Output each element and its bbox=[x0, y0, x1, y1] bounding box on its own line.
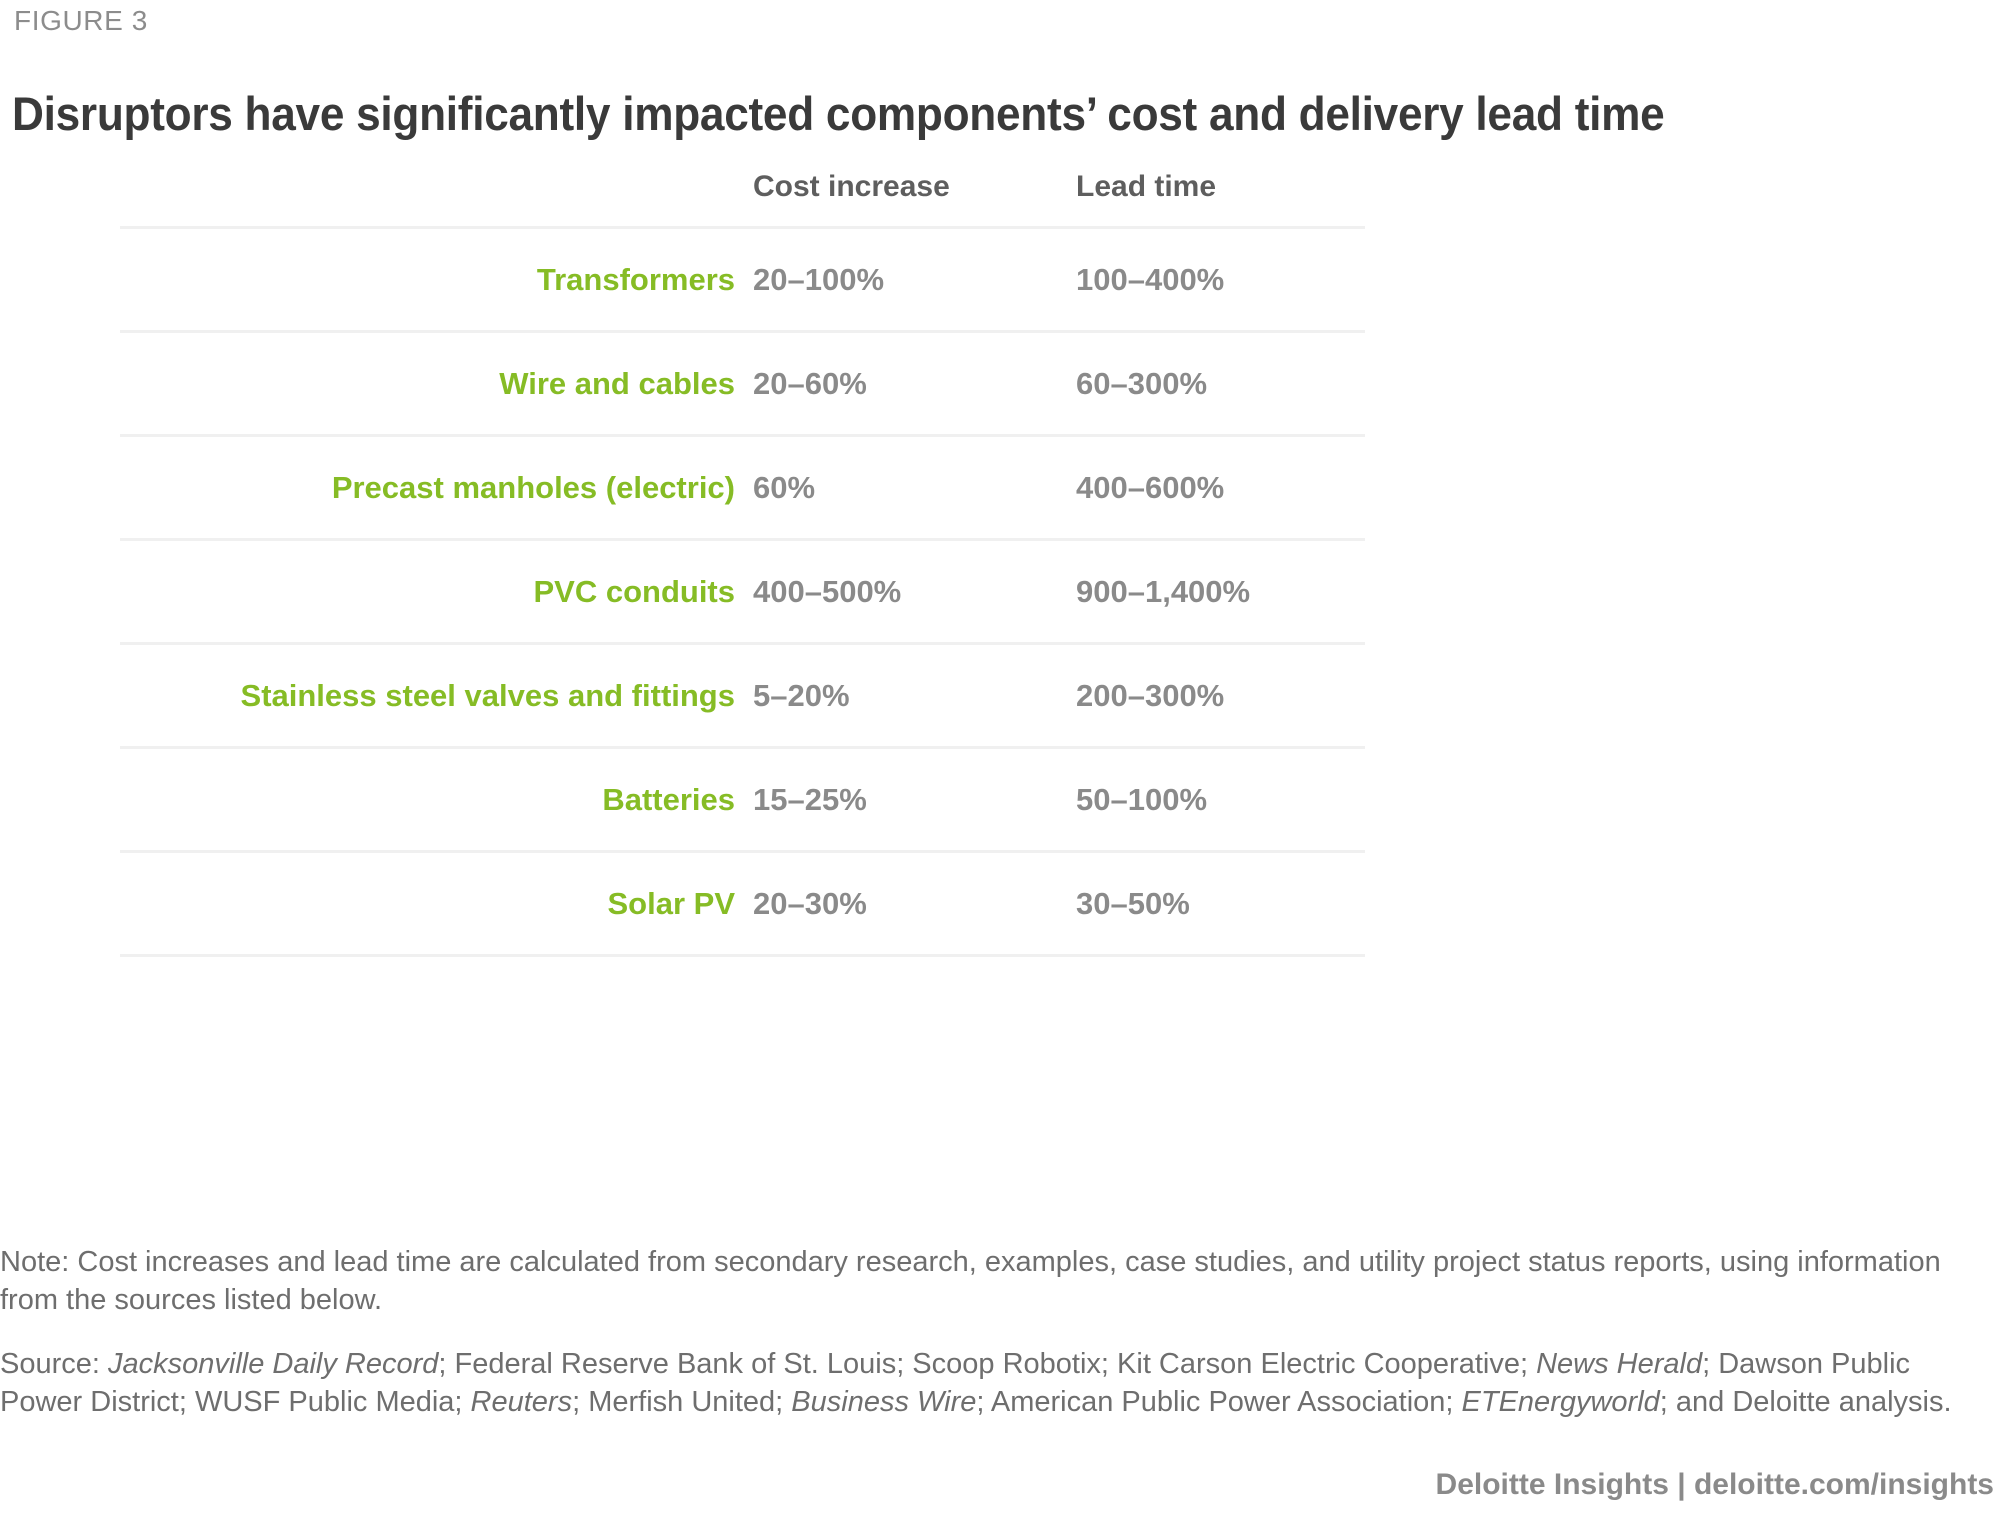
table-row: Stainless steel valves and fittings5–20%… bbox=[120, 644, 1365, 748]
cell-lead-time: 200–300% bbox=[1058, 644, 1365, 748]
cell-cost-increase: 20–60% bbox=[735, 332, 1058, 436]
figure-page: FIGURE 3 Disruptors have significantly i… bbox=[0, 0, 2000, 1531]
components-table: Cost increase Lead time Transformers20–1… bbox=[120, 170, 1365, 957]
cell-component: PVC conduits bbox=[120, 540, 735, 644]
cell-cost-increase: 5–20% bbox=[735, 644, 1058, 748]
column-header-cost-increase: Cost increase bbox=[735, 170, 1058, 228]
cell-lead-time: 60–300% bbox=[1058, 332, 1365, 436]
cell-lead-time: 30–50% bbox=[1058, 852, 1365, 956]
source-text: Source: Jacksonville Daily Record; Feder… bbox=[0, 1345, 1980, 1421]
source-publication: News Herald bbox=[1536, 1348, 1702, 1380]
source-text-run: ; Federal Reserve Bank of St. Louis; Sco… bbox=[438, 1348, 1536, 1380]
cell-component: Stainless steel valves and fittings bbox=[120, 644, 735, 748]
notes-section: Note: Cost increases and lead time are c… bbox=[0, 1243, 1980, 1421]
figure-title: Disruptors have significantly impacted c… bbox=[12, 86, 1664, 141]
deloitte-insights-brand: Deloitte Insights | deloitte.com/insight… bbox=[1436, 1468, 1994, 1502]
cell-cost-increase: 400–500% bbox=[735, 540, 1058, 644]
table-row: Precast manholes (electric)60%400–600% bbox=[120, 436, 1365, 540]
cell-cost-increase: 60% bbox=[735, 436, 1058, 540]
cell-lead-time: 900–1,400% bbox=[1058, 540, 1365, 644]
cell-cost-increase: 20–30% bbox=[735, 852, 1058, 956]
table-row: Solar PV20–30%30–50% bbox=[120, 852, 1365, 956]
cell-component: Batteries bbox=[120, 748, 735, 852]
table-header: Cost increase Lead time bbox=[120, 170, 1365, 228]
cell-component: Solar PV bbox=[120, 852, 735, 956]
table-row: Batteries15–25%50–100% bbox=[120, 748, 1365, 852]
column-header-lead-time: Lead time bbox=[1058, 170, 1365, 228]
cell-lead-time: 100–400% bbox=[1058, 228, 1365, 332]
source-text-run: Source: bbox=[0, 1348, 108, 1380]
source-publication: Business Wire bbox=[791, 1386, 976, 1418]
source-text-run: ; American Public Power Association; bbox=[976, 1386, 1461, 1418]
cell-lead-time: 50–100% bbox=[1058, 748, 1365, 852]
cell-component: Wire and cables bbox=[120, 332, 735, 436]
source-publication: Reuters bbox=[471, 1386, 573, 1418]
source-publication: Jacksonville Daily Record bbox=[108, 1348, 438, 1380]
cell-lead-time: 400–600% bbox=[1058, 436, 1365, 540]
data-table-container: Cost increase Lead time Transformers20–1… bbox=[120, 170, 1365, 957]
source-publication: ETEnergyworld bbox=[1462, 1386, 1660, 1418]
note-text: Note: Cost increases and lead time are c… bbox=[0, 1243, 1980, 1319]
table-row: Wire and cables20–60%60–300% bbox=[120, 332, 1365, 436]
cell-component: Precast manholes (electric) bbox=[120, 436, 735, 540]
cell-cost-increase: 15–25% bbox=[735, 748, 1058, 852]
cell-cost-increase: 20–100% bbox=[735, 228, 1058, 332]
table-body: Transformers20–100%100–400%Wire and cabl… bbox=[120, 228, 1365, 956]
source-text-run: ; Merfish United; bbox=[572, 1386, 791, 1418]
figure-label: FIGURE 3 bbox=[14, 5, 148, 37]
table-header-row: Cost increase Lead time bbox=[120, 170, 1365, 228]
table-row: PVC conduits400–500%900–1,400% bbox=[120, 540, 1365, 644]
table-row: Transformers20–100%100–400% bbox=[120, 228, 1365, 332]
source-text-run: ; and Deloitte analysis. bbox=[1660, 1386, 1952, 1418]
column-header-component bbox=[120, 170, 735, 228]
cell-component: Transformers bbox=[120, 228, 735, 332]
